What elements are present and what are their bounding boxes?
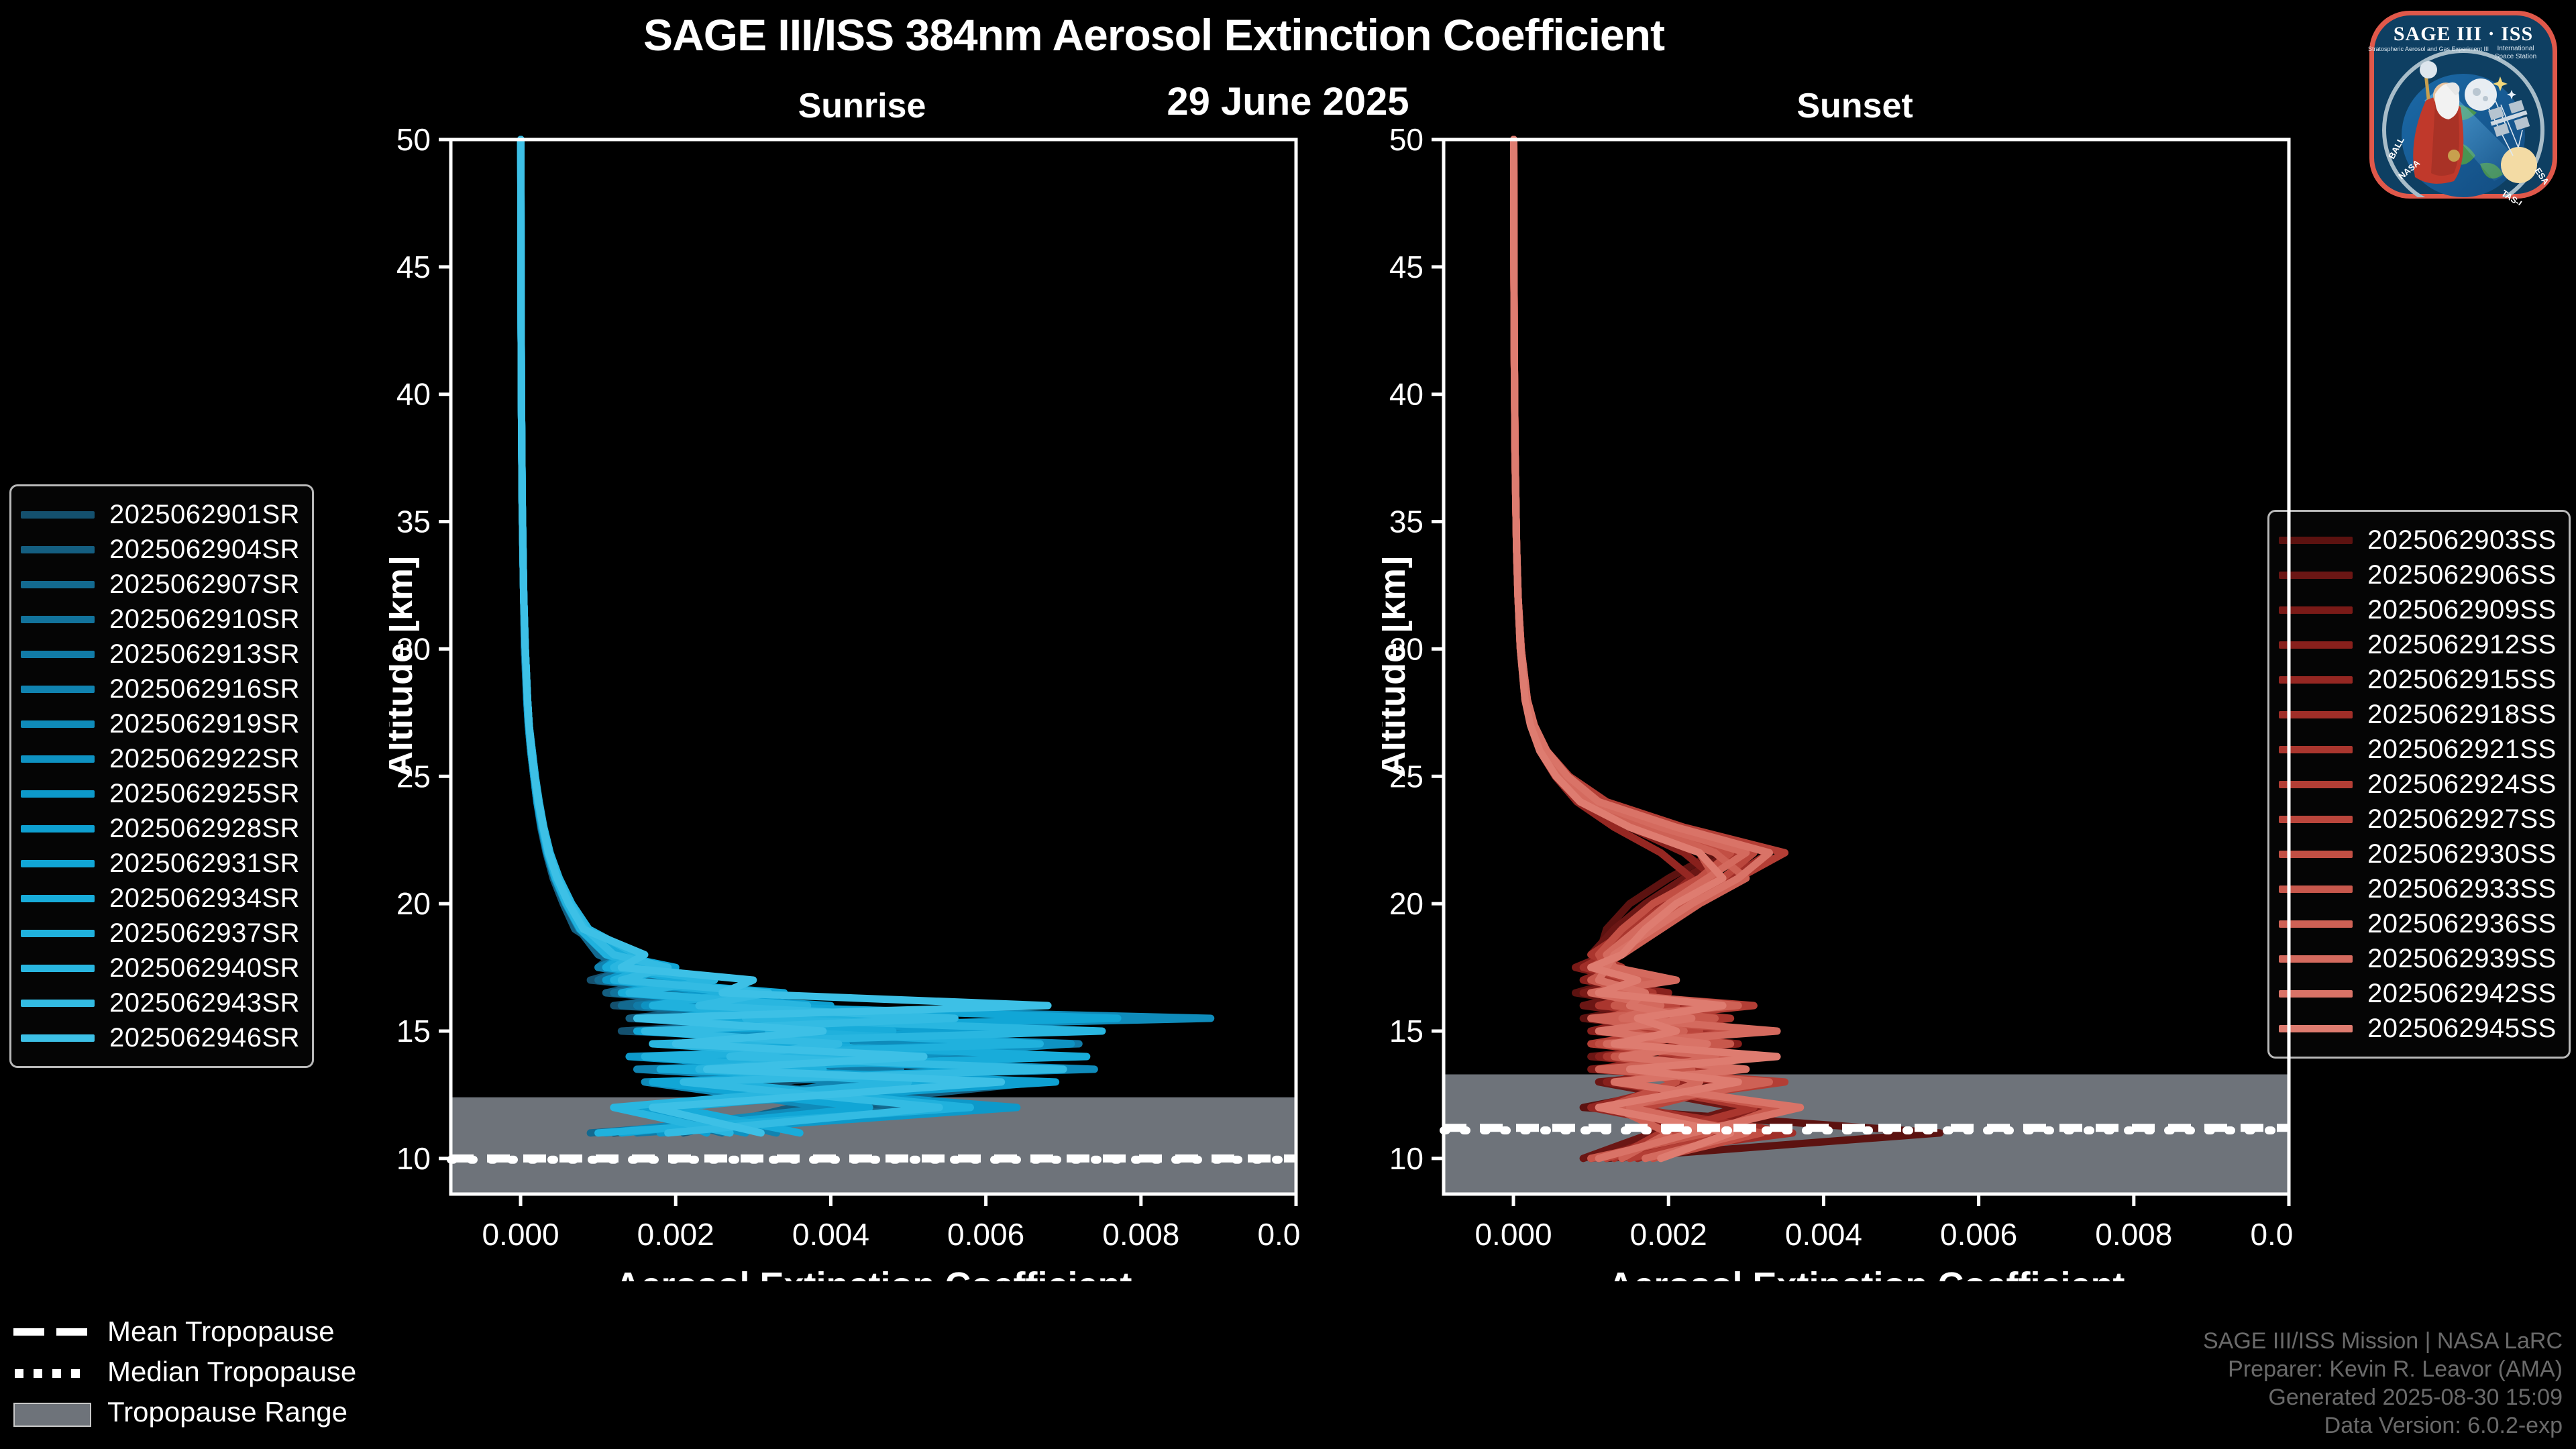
legend-sunset-item[interactable]: 2025062906SS xyxy=(2279,557,2557,592)
legend-item-label: 2025062904SR xyxy=(109,535,300,565)
legend-item-label: 2025062946SR xyxy=(109,1023,300,1053)
key-label-median: Median Tropopause xyxy=(107,1356,356,1388)
legend-sunrise-item[interactable]: 2025062946SR xyxy=(21,1020,300,1055)
x-tick-label: 0.008 xyxy=(1102,1217,1179,1252)
legend-item-label: 2025062922SR xyxy=(109,744,300,774)
x-tick-label: 0.010 xyxy=(2250,1217,2294,1252)
legend-color-swatch xyxy=(21,1000,95,1007)
legend-item-label: 2025062928SR xyxy=(109,814,300,844)
legend-color-swatch xyxy=(21,651,95,658)
credit-line-1: SAGE III/ISS Mission | NASA LaRC xyxy=(2203,1327,2563,1355)
panel-title-sunset: Sunset xyxy=(1597,86,2113,126)
key-label-mean: Mean Tropopause xyxy=(107,1316,335,1348)
legend-sunrise-item[interactable]: 2025062931SR xyxy=(21,846,300,881)
chart-subtitle-date: 29 June 2025 xyxy=(0,79,2576,124)
legend-color-swatch xyxy=(21,546,95,553)
legend-color-swatch xyxy=(21,511,95,519)
x-tick-label: 0.000 xyxy=(482,1217,559,1252)
svg-text:Stratospheric Aerosol and Gas: Stratospheric Aerosol and Gas Experiment… xyxy=(2368,46,2489,52)
profile-line xyxy=(521,140,1063,1133)
legend-sunset-item[interactable]: 2025062939SS xyxy=(2279,941,2557,976)
legend-sunset-item[interactable]: 2025062930SS xyxy=(2279,837,2557,871)
y-tick-label: 40 xyxy=(1389,377,1424,412)
legend-item-label: 2025062903SS xyxy=(2367,525,2557,555)
legend-item-label: 2025062901SR xyxy=(109,500,300,530)
legend-item-label: 2025062918SS xyxy=(2367,700,2557,730)
legend-sunrise-item[interactable]: 2025062928SR xyxy=(21,811,300,846)
y-tick-label: 10 xyxy=(1389,1141,1424,1176)
legend-item-label: 2025062907SR xyxy=(109,570,300,600)
y-tick-label: 40 xyxy=(396,377,431,412)
y-tick-label: 20 xyxy=(1389,886,1424,921)
legend-sunrise-item[interactable]: 2025062922SR xyxy=(21,741,300,776)
y-tick-label: 35 xyxy=(1389,504,1424,539)
key-row-median-tropopause: Median Tropopause xyxy=(12,1352,356,1392)
range-band-icon xyxy=(12,1403,93,1421)
dotted-line-icon xyxy=(12,1363,93,1381)
legend-item-label: 2025062936SS xyxy=(2367,909,2557,939)
legend-color-swatch xyxy=(21,825,95,833)
x-tick-label: 0.002 xyxy=(1630,1217,1707,1252)
legend-item-label: 2025062930SS xyxy=(2367,839,2557,869)
svg-text:Space Station: Space Station xyxy=(2495,53,2536,60)
plot-sunset[interactable]: 1015202530354045500.0000.0020.0040.0060.… xyxy=(1382,127,2294,1281)
legend-item-label: 2025062937SR xyxy=(109,918,300,949)
legend-color-swatch xyxy=(21,860,95,867)
legend-item-label: 2025062916SR xyxy=(109,674,300,704)
legend-sunrise-item[interactable]: 2025062925SR xyxy=(21,776,300,811)
legend-color-swatch xyxy=(21,720,95,728)
legend-sunrise-item[interactable]: 2025062910SR xyxy=(21,602,300,637)
legend-color-swatch xyxy=(21,965,95,972)
legend-sunset-item[interactable]: 2025062942SS xyxy=(2279,976,2557,1011)
legend-sunrise-item[interactable]: 2025062901SR xyxy=(21,497,300,532)
legend-item-label: 2025062924SS xyxy=(2367,769,2557,800)
x-tick-label: 0.000 xyxy=(1474,1217,1552,1252)
legend-item-label: 2025062943SR xyxy=(109,988,300,1018)
legend-sunset-item[interactable]: 2025062909SS xyxy=(2279,592,2557,627)
svg-text:International: International xyxy=(2497,45,2534,52)
legend-item-label: 2025062909SS xyxy=(2367,595,2557,625)
y-axis-label: Altitude [km] xyxy=(389,556,420,777)
legend-sunset-item[interactable]: 2025062918SS xyxy=(2279,697,2557,732)
legend-sunset-item[interactable]: 2025062903SS xyxy=(2279,523,2557,557)
legend-item-label: 2025062921SS xyxy=(2367,735,2557,765)
y-tick-label: 15 xyxy=(1389,1014,1424,1049)
tropopause-key: Mean Tropopause Median Tropopause Tropop… xyxy=(12,1311,356,1432)
legend-sunrise-item[interactable]: 2025062940SR xyxy=(21,951,300,985)
legend-sunrise-item[interactable]: 2025062937SR xyxy=(21,916,300,951)
legend-item-label: 2025062933SS xyxy=(2367,874,2557,904)
legend-item-label: 2025062940SR xyxy=(109,953,300,983)
page-title: SAGE III/ISS 384nm Aerosol Extinction Co… xyxy=(0,9,2308,60)
legend-item-label: 2025062915SS xyxy=(2367,665,2557,695)
legend-sunrise-item[interactable]: 2025062943SR xyxy=(21,985,300,1020)
y-tick-label: 10 xyxy=(396,1141,431,1176)
legend-item-label: 2025062913SR xyxy=(109,639,300,669)
plot-frame xyxy=(1444,140,2289,1194)
y-tick-label: 15 xyxy=(396,1014,431,1049)
legend-item-label: 2025062931SR xyxy=(109,849,300,879)
legend-color-swatch xyxy=(21,895,95,902)
y-tick-label: 45 xyxy=(1389,250,1424,284)
y-axis-label: Altitude [km] xyxy=(1382,556,1413,777)
legend-sunset-item[interactable]: 2025062933SS xyxy=(2279,871,2557,906)
legend-sunset-item[interactable]: 2025062945SS xyxy=(2279,1011,2557,1046)
legend-sunset-item[interactable]: 2025062921SS xyxy=(2279,732,2557,767)
legend-color-swatch xyxy=(21,790,95,798)
key-label-range: Tropopause Range xyxy=(107,1396,347,1428)
legend-color-swatch xyxy=(21,755,95,763)
legend-color-swatch xyxy=(21,930,95,937)
legend-item-label: 2025062925SR xyxy=(109,779,300,809)
legend-sunset-item[interactable]: 2025062912SS xyxy=(2279,627,2557,662)
legend-sunset-events[interactable]: 2025062903SS2025062906SS2025062909SS2025… xyxy=(2267,510,2571,1059)
legend-sunset-item[interactable]: 2025062927SS xyxy=(2279,802,2557,837)
legend-item-label: 2025062927SS xyxy=(2367,804,2557,835)
x-axis-label: Aerosol Extinction Coefficient xyxy=(1607,1265,2125,1281)
profile-line xyxy=(521,140,1001,1133)
legend-color-swatch xyxy=(21,1034,95,1042)
legend-sunrise-item[interactable]: 2025062907SR xyxy=(21,567,300,602)
y-tick-label: 45 xyxy=(396,250,431,284)
legend-sunset-item[interactable]: 2025062924SS xyxy=(2279,767,2557,802)
x-tick-label: 0.010 xyxy=(1257,1217,1301,1252)
legend-sunrise-item[interactable]: 2025062904SR xyxy=(21,532,300,567)
legend-color-swatch xyxy=(21,616,95,623)
legend-item-label: 2025062912SS xyxy=(2367,630,2557,660)
legend-color-swatch xyxy=(21,581,95,588)
credits-block: SAGE III/ISS Mission | NASA LaRC Prepare… xyxy=(2203,1327,2563,1440)
legend-item-label: 2025062939SS xyxy=(2367,944,2557,974)
legend-item-label: 2025062942SS xyxy=(2367,979,2557,1009)
legend-item-label: 2025062906SS xyxy=(2367,560,2557,590)
x-tick-label: 0.008 xyxy=(2095,1217,2172,1252)
y-tick-label: 20 xyxy=(396,886,431,921)
y-tick-label: 35 xyxy=(396,504,431,539)
credit-line-3: Generated 2025-08-30 15:09 xyxy=(2203,1383,2563,1411)
legend-sunset-item[interactable]: 2025062915SS xyxy=(2279,662,2557,697)
legend-color-swatch xyxy=(21,686,95,693)
legend-item-label: 2025062945SS xyxy=(2367,1014,2557,1044)
sage-iii-iss-mission-patch-icon: SAGE III · ISS Stratospheric Aerosol and… xyxy=(2363,4,2564,205)
legend-sunrise-events[interactable]: 2025062901SR2025062904SR2025062907SR2025… xyxy=(9,484,314,1068)
x-axis-label: Aerosol Extinction Coefficient xyxy=(614,1265,1132,1281)
legend-sunrise-item[interactable]: 2025062916SR xyxy=(21,672,300,706)
legend-item-label: 2025062919SR xyxy=(109,709,300,739)
svg-text:SAGE III · ISS: SAGE III · ISS xyxy=(2394,23,2533,45)
y-tick-label: 50 xyxy=(1389,127,1424,157)
legend-sunrise-item[interactable]: 2025062913SR xyxy=(21,637,300,672)
panel-title-sunrise: Sunrise xyxy=(604,86,1120,126)
x-tick-label: 0.002 xyxy=(637,1217,714,1252)
credit-line-4: Data Version: 6.0.2-exp xyxy=(2203,1411,2563,1440)
dashed-line-icon xyxy=(12,1323,93,1340)
legend-sunset-item[interactable]: 2025062936SS xyxy=(2279,906,2557,941)
key-row-tropopause-range: Tropopause Range xyxy=(12,1392,356,1432)
x-tick-label: 0.004 xyxy=(792,1217,869,1252)
legend-item-label: 2025062934SR xyxy=(109,883,300,914)
y-tick-label: 50 xyxy=(396,127,431,157)
plot-sunrise[interactable]: 1015202530354045500.0000.0020.0040.0060.… xyxy=(389,127,1301,1281)
x-tick-label: 0.006 xyxy=(947,1217,1024,1252)
legend-sunrise-item[interactable]: 2025062934SR xyxy=(21,881,300,916)
key-row-mean-tropopause: Mean Tropopause xyxy=(12,1311,356,1352)
credit-line-2: Preparer: Kevin R. Leavor (AMA) xyxy=(2203,1355,2563,1383)
legend-item-label: 2025062910SR xyxy=(109,604,300,635)
x-tick-label: 0.006 xyxy=(1940,1217,2017,1252)
x-tick-label: 0.004 xyxy=(1785,1217,1862,1252)
legend-sunrise-item[interactable]: 2025062919SR xyxy=(21,706,300,741)
